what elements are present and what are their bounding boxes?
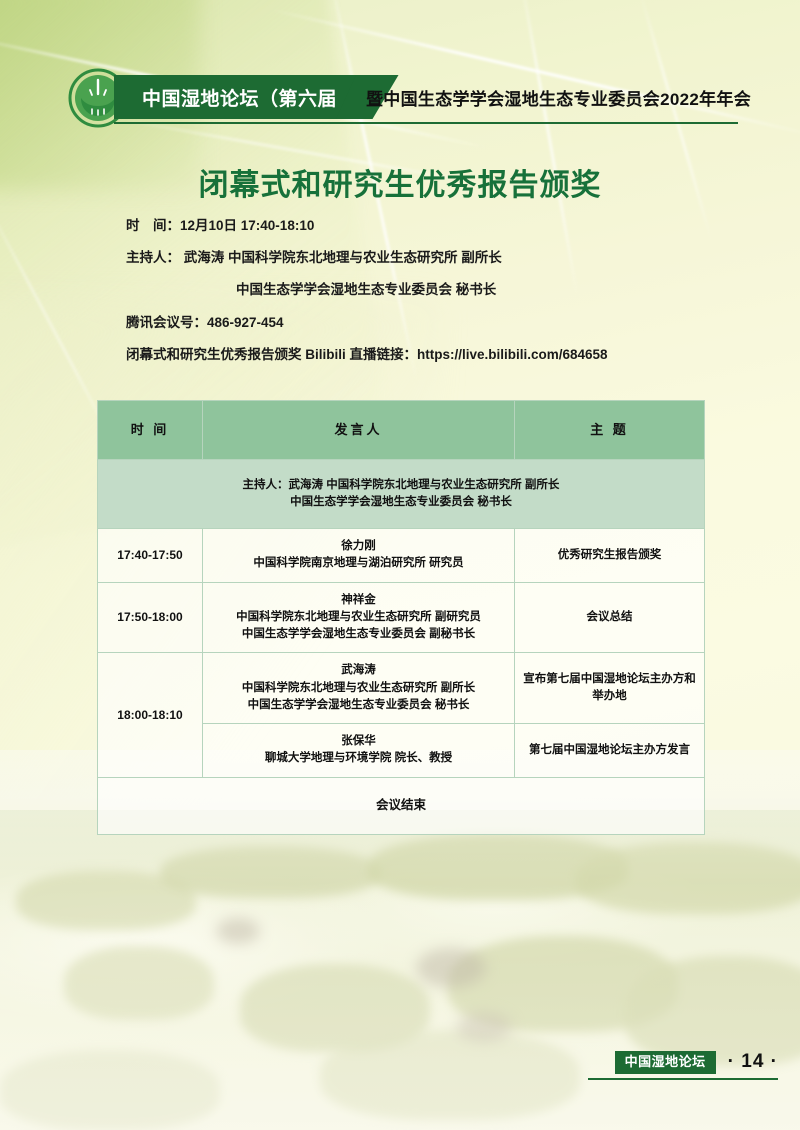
row-topic: 宣布第七届中国湿地论坛主办方和举办地 <box>515 653 705 724</box>
row-speaker: 武海涛 中国科学院东北地理与农业生态研究所 副所长 中国生态学学会湿地生态专业委… <box>203 653 515 724</box>
column-header-speaker: 发言人 <box>203 401 515 460</box>
info-time: 时 间：12月10日 17:40-18:10 <box>126 218 726 234</box>
page-title: 闭幕式和研究生优秀报告颁奖 <box>0 160 800 204</box>
speaker-affiliation: 中国科学院东北地理与农业生态研究所 副研究员 <box>211 609 506 626</box>
row-topic: 优秀研究生报告颁奖 <box>515 529 705 583</box>
speaker-affiliation: 中国科学院南京地理与湖泊研究所 研究员 <box>211 555 506 572</box>
footer-divider <box>588 1078 778 1080</box>
schedule-table: 时 间 发言人 主 题 主持人：武海涛 中国科学院东北地理与农业生态研究所 副所… <box>97 400 705 835</box>
header-ribbon-title: 中国湿地论坛（第六届） <box>142 84 357 111</box>
schedule-table-container: 时 间 发言人 主 题 主持人：武海涛 中国科学院东北地理与农业生态研究所 副所… <box>97 400 705 835</box>
speaker-name: 张保华 <box>211 733 506 750</box>
info-host-second: 中国生态学学会湿地生态专业委员会 秘书长 <box>126 282 726 298</box>
end-note: 会议结束 <box>98 777 705 834</box>
table-row: 17:50-18:00 神祥金 中国科学院东北地理与农业生态研究所 副研究员 中… <box>98 582 705 653</box>
column-header-time: 时 间 <box>98 401 203 460</box>
row-time: 17:40-17:50 <box>98 529 203 583</box>
info-meeting-id: 腾讯会议号：486-927-454 <box>126 315 726 331</box>
speaker-name: 神祥金 <box>211 592 506 609</box>
speaker-affiliation: 中国科学院东北地理与农业生态研究所 副所长 <box>211 680 506 697</box>
page-number: · 14 · <box>728 1051 778 1073</box>
header-divider <box>114 122 738 124</box>
row-speaker: 张保华 聊城大学地理与环境学院 院长、教授 <box>203 724 515 778</box>
chair-line-2: 中国生态学学会湿地生态专业委员会 秘书长 <box>108 494 694 511</box>
info-live-link: 闭幕式和研究生优秀报告颁奖 Bilibili 直播链接：https://live… <box>126 347 726 363</box>
row-topic: 会议总结 <box>515 582 705 653</box>
speaker-affiliation-secondary: 中国生态学学会湿地生态专业委员会 秘书长 <box>211 697 506 714</box>
header-ribbon: 中国湿地论坛（第六届） <box>114 75 399 119</box>
row-time: 17:50-18:00 <box>98 582 203 653</box>
row-speaker: 神祥金 中国科学院东北地理与农业生态研究所 副研究员 中国生态学学会湿地生态专业… <box>203 582 515 653</box>
speaker-name: 徐力刚 <box>211 538 506 555</box>
table-row: 17:40-17:50 徐力刚 中国科学院南京地理与湖泊研究所 研究员 优秀研究… <box>98 529 705 583</box>
row-topic: 第七届中国湿地论坛主办方发言 <box>515 724 705 778</box>
page-footer: 中国湿地论坛 · 14 · <box>615 1051 778 1074</box>
header-banner: 中国湿地论坛（第六届） 暨中国生态学学会湿地生态专业委员会2022年年会 <box>0 66 800 128</box>
table-end-row: 会议结束 <box>98 777 705 834</box>
row-speaker: 徐力刚 中国科学院南京地理与湖泊研究所 研究员 <box>203 529 515 583</box>
row-time: 18:00-18:10 <box>98 653 203 777</box>
chair-cell: 主持人：武海涛 中国科学院东北地理与农业生态研究所 副所长 中国生态学学会湿地生… <box>98 460 705 529</box>
info-host: 主持人： 武海涛 中国科学院东北地理与农业生态研究所 副所长 <box>126 250 726 266</box>
speaker-name: 武海涛 <box>211 662 506 679</box>
page: 中国湿地论坛（第六届） 暨中国生态学学会湿地生态专业委员会2022年年会 闭幕式… <box>0 0 800 1130</box>
table-chair-row: 主持人：武海涛 中国科学院东北地理与农业生态研究所 副所长 中国生态学学会湿地生… <box>98 460 705 529</box>
table-header-row: 时 间 发言人 主 题 <box>98 401 705 460</box>
column-header-topic: 主 题 <box>515 401 705 460</box>
header-subtitle: 暨中国生态学学会湿地生态专业委员会2022年年会 <box>366 75 751 119</box>
session-info: 时 间：12月10日 17:40-18:10 主持人： 武海涛 中国科学院东北地… <box>126 218 726 379</box>
speaker-affiliation-secondary: 中国生态学学会湿地生态专业委员会 副秘书长 <box>211 626 506 643</box>
speaker-affiliation: 聊城大学地理与环境学院 院长、教授 <box>211 750 506 767</box>
table-row: 18:00-18:10 武海涛 中国科学院东北地理与农业生态研究所 副所长 中国… <box>98 653 705 724</box>
chair-line-1: 主持人：武海涛 中国科学院东北地理与农业生态研究所 副所长 <box>108 477 694 494</box>
footer-badge: 中国湿地论坛 <box>615 1051 716 1074</box>
